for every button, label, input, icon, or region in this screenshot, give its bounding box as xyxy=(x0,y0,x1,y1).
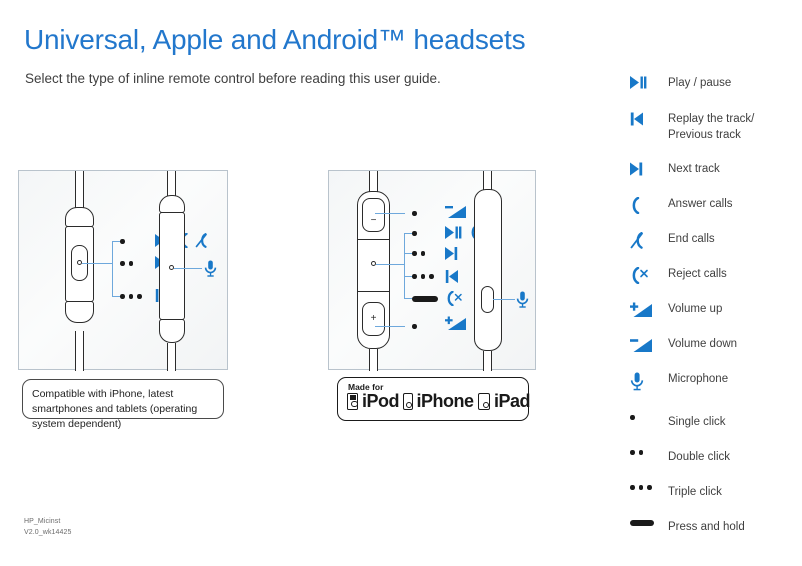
legend-label: Reject calls xyxy=(660,267,727,283)
row-double-click-dots xyxy=(120,261,133,266)
legend-label: Volume up xyxy=(660,302,722,318)
leader-bracket-center xyxy=(404,233,405,298)
legend-item-end-calls: End calls xyxy=(630,232,715,249)
previous-track-icon xyxy=(630,112,660,126)
leader-line-volume-up xyxy=(375,326,405,327)
triple-click-icon xyxy=(630,485,660,490)
remote-body-top xyxy=(65,207,94,227)
leader-line-row1 xyxy=(112,241,120,242)
legend-item-volume-down: Volume down xyxy=(630,337,737,353)
leader-line-center xyxy=(82,263,113,264)
volume-up-icon xyxy=(445,316,467,331)
cable-lower-left xyxy=(369,349,378,371)
end-call-icon xyxy=(195,233,208,248)
legend-label: Volume down xyxy=(660,337,737,353)
row-volup-action xyxy=(445,316,467,331)
next-track-icon xyxy=(445,247,458,260)
legend-item-next-track: Next track xyxy=(630,162,720,178)
legend-label: Replay the track/ Previous track xyxy=(660,112,754,143)
iphone-icon xyxy=(403,393,413,410)
mic-body xyxy=(474,189,502,351)
row-next-dots xyxy=(412,251,425,256)
legend-item-single-click: Single click xyxy=(630,415,726,431)
volume-up-icon xyxy=(630,302,660,318)
document-code-line1: HP_Micinst xyxy=(24,517,72,528)
ipod-icon xyxy=(347,393,358,410)
cable-lower-right xyxy=(483,351,492,371)
leader-line-row-next xyxy=(404,253,412,254)
leader-line-row3 xyxy=(112,296,120,297)
legend-label: Answer calls xyxy=(660,197,733,213)
legend-label: Double click xyxy=(660,450,730,466)
mic-body-bottom xyxy=(159,319,185,343)
cable-lower-left xyxy=(75,331,84,371)
cable-upper-right xyxy=(483,171,492,191)
leader-line-center xyxy=(376,264,405,265)
document-code: HP_Micinst V2.0_wk14425 xyxy=(24,517,72,538)
row-voldown-action xyxy=(445,205,467,219)
single-click-icon xyxy=(630,415,660,420)
page-subtitle: Select the type of inline remote control… xyxy=(25,71,441,86)
end-call-icon xyxy=(630,232,660,249)
row-triple-click-dots xyxy=(120,294,142,299)
compatibility-caption: Compatible with iPhone, latest smartphon… xyxy=(22,379,224,419)
microphone-icon xyxy=(516,291,529,308)
press-hold-icon xyxy=(630,520,660,526)
legend-item-answer-calls: Answer calls xyxy=(630,197,733,214)
volume-down-icon xyxy=(445,205,467,219)
answer-call-icon xyxy=(630,197,660,214)
previous-track-icon xyxy=(445,270,458,283)
legend-item-double-click: Double click xyxy=(630,450,730,466)
double-click-icon xyxy=(630,450,660,455)
legend-label: End calls xyxy=(660,232,715,248)
remote-seam-lower xyxy=(357,291,390,292)
legend-item-play-pause: Play / pause xyxy=(630,76,731,92)
leader-line-microphone xyxy=(493,299,515,300)
legend-item-volume-up: Volume up xyxy=(630,302,722,318)
volume-down-button-label: − xyxy=(362,216,385,226)
microphone-icon xyxy=(204,260,217,277)
leader-line-microphone xyxy=(174,268,202,269)
row-voldown-dots xyxy=(412,211,417,216)
row-microphone-action xyxy=(204,260,217,277)
ipad-label: iPad xyxy=(494,392,530,410)
remote-seam-upper xyxy=(357,239,390,240)
legend-item-press-and-hold: Press and hold xyxy=(630,520,745,536)
universal-headset-diagram xyxy=(18,170,228,370)
page-title: Universal, Apple and Android™ headsets xyxy=(24,24,525,56)
mic-body-top xyxy=(159,195,185,213)
row-microphone-action xyxy=(516,291,529,308)
made-for-apple-badge: Made for iPod iPhone iPad xyxy=(337,377,529,421)
row-next-action xyxy=(445,247,458,260)
page-root: Universal, Apple and Android™ headsets S… xyxy=(0,0,802,566)
document-code-line2: V2.0_wk14425 xyxy=(24,528,72,539)
legend-item-triple-click: Triple click xyxy=(630,485,722,501)
row-play-dots xyxy=(412,231,417,236)
legend-item-microphone: Microphone xyxy=(630,372,728,391)
legend-label: Press and hold xyxy=(660,520,745,536)
volume-down-icon xyxy=(630,337,660,353)
row-prev-dots xyxy=(412,274,434,279)
cable-lower-right xyxy=(167,343,176,371)
reject-call-icon xyxy=(630,267,660,284)
volume-up-button-label: + xyxy=(362,314,385,324)
legend-label: Microphone xyxy=(660,372,728,388)
remote-body-bottom xyxy=(65,301,94,323)
row-reject-hold-bar xyxy=(412,296,438,302)
leader-line-row-prev xyxy=(404,276,412,277)
leader-line-row-reject xyxy=(404,298,412,299)
legend-label: Next track xyxy=(660,162,720,178)
row-single-click-dots xyxy=(120,239,125,244)
leader-bracket xyxy=(112,241,113,296)
cable-upper-left xyxy=(369,171,378,193)
apple-headset-diagram: − + xyxy=(328,170,536,370)
ipad-icon xyxy=(478,393,491,410)
leader-line-row-play xyxy=(404,233,412,234)
legend-item-previous-track: Replay the track/ Previous track xyxy=(630,112,754,143)
reject-call-icon xyxy=(445,291,463,306)
play-pause-icon xyxy=(445,226,462,239)
legend-label: Triple click xyxy=(660,485,722,501)
microphone-icon xyxy=(630,372,660,391)
row-reject-action xyxy=(445,291,463,306)
legend-item-reject-calls: Reject calls xyxy=(630,267,727,284)
iphone-label: iPhone xyxy=(417,392,474,410)
legend-label: Single click xyxy=(660,415,726,431)
leader-line-volume-down xyxy=(375,213,405,214)
row-prev-action xyxy=(445,270,458,283)
cable-upper-left xyxy=(75,171,84,211)
next-track-icon xyxy=(630,162,660,176)
ipod-label: iPod xyxy=(362,392,399,410)
row-volup-dots xyxy=(412,324,417,329)
play-pause-icon xyxy=(630,76,660,89)
legend-label: Play / pause xyxy=(660,76,731,92)
